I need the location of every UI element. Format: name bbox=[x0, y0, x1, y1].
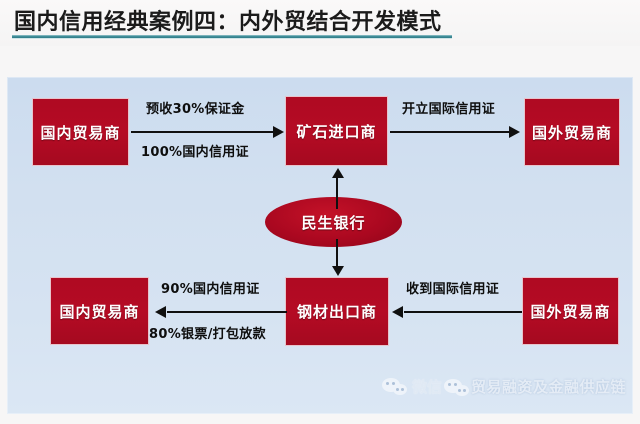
page-title: 国内信用经典案例四：内外贸结合开发模式 bbox=[14, 4, 442, 36]
arrow-head-e5 bbox=[155, 306, 166, 318]
arrow-head-e4 bbox=[332, 266, 344, 276]
arrow-line-e6 bbox=[404, 311, 522, 313]
arrow-head-e3 bbox=[332, 168, 344, 178]
edge-label-e6-above: 收到国际信用证 bbox=[406, 278, 499, 297]
arrow-line-e2 bbox=[390, 131, 510, 133]
node-ore-importer[interactable]: 矿石进口商 bbox=[285, 96, 388, 166]
node-domestic-trader-bottom[interactable]: 国内贸易商 bbox=[50, 277, 149, 345]
wechat-logo-icon bbox=[382, 377, 408, 397]
wechat-logo-icon-secondary bbox=[444, 378, 468, 396]
node-domestic-trader-top[interactable]: 国内贸易商 bbox=[32, 98, 129, 166]
watermark-label: 贸易融资及金融供应链 bbox=[471, 376, 626, 397]
edge-label-e5-below: 80%银票/打包放款 bbox=[149, 323, 266, 342]
watermark: 微信 贸易融资及金融供应链 bbox=[382, 376, 626, 397]
slide-screenshot: 国内信用经典案例四：内外贸结合开发模式 国内贸易商 矿石进口商 国外贸易商 民生… bbox=[0, 0, 640, 424]
arrow-head-e2 bbox=[509, 126, 520, 138]
watermark-wechat-text: 微信 bbox=[412, 376, 442, 397]
arrow-line-e5 bbox=[167, 311, 287, 313]
node-bank-ellipse[interactable]: 民生银行 bbox=[265, 197, 402, 247]
node-foreign-trader-top[interactable]: 国外贸易商 bbox=[524, 98, 620, 166]
edge-label-e1-below: 100%国内信用证 bbox=[141, 141, 249, 160]
diagram-panel: 国内贸易商 矿石进口商 国外贸易商 民生银行 国内贸易商 钢材出口商 国外贸易商… bbox=[7, 77, 633, 414]
arrow-head-e6 bbox=[392, 306, 403, 318]
arrow-head-e1 bbox=[273, 126, 284, 138]
arrow-line-e1 bbox=[131, 131, 274, 133]
edge-label-e2-above: 开立国际信用证 bbox=[402, 98, 495, 117]
edge-label-e1-above: 预收30%保证金 bbox=[146, 98, 245, 117]
title-underline-divider bbox=[12, 35, 452, 38]
title-bar: 国内信用经典案例四：内外贸结合开发模式 bbox=[0, 0, 640, 46]
node-steel-exporter[interactable]: 钢材出口商 bbox=[285, 277, 389, 346]
arrow-line-e4 bbox=[336, 239, 338, 269]
arrow-line-e3 bbox=[336, 177, 338, 209]
node-foreign-trader-bottom[interactable]: 国外贸易商 bbox=[522, 277, 619, 345]
edge-label-e5-above: 90%国内信用证 bbox=[161, 278, 260, 297]
